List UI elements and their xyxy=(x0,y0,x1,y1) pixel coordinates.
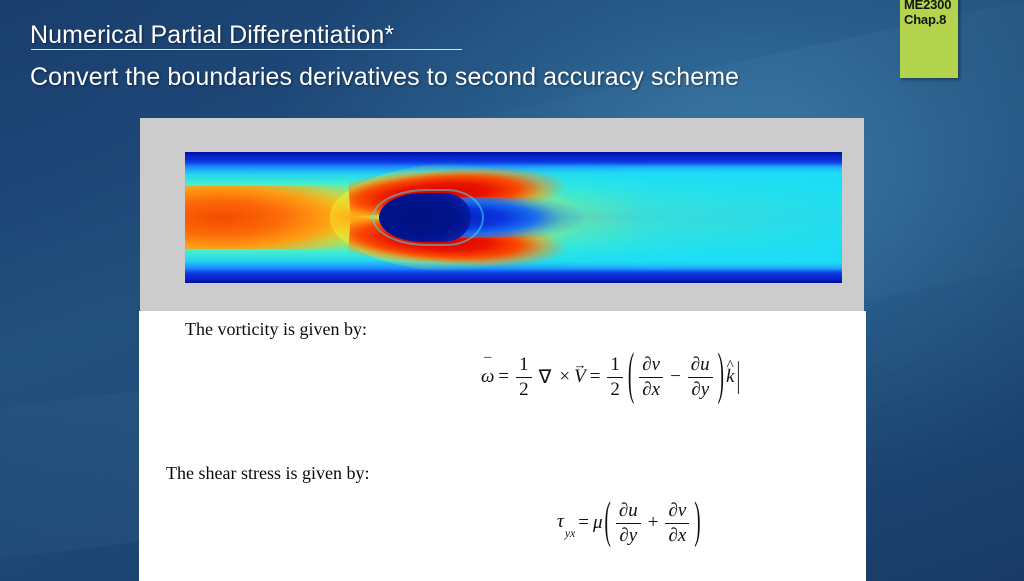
tau-subscript: yx xyxy=(565,527,575,540)
cfd-wall-boundary-layers xyxy=(185,152,842,283)
partial-v: ∂v xyxy=(665,501,689,521)
partial-u: ∂u xyxy=(616,501,641,521)
du-dy-fraction: ∂u ∂y xyxy=(688,355,713,400)
fraction-denominator: 2 xyxy=(607,380,623,400)
k-unit-vector-symbol: k^ xyxy=(726,366,734,388)
tau-glyph: τ xyxy=(557,511,564,532)
du-dy-fraction-2: ∂u ∂y xyxy=(616,501,641,546)
open-paren-2: ( xyxy=(605,494,611,553)
viscosity-symbol: μ xyxy=(593,512,603,534)
cross-product-sign: × xyxy=(559,366,570,388)
dv-dx-fraction: ∂v ∂x xyxy=(639,355,663,400)
fraction-bar xyxy=(639,377,663,378)
dv-dx-fraction-2: ∂v ∂x xyxy=(665,501,689,546)
one-half-fraction-2: 1 2 xyxy=(607,355,623,400)
omega-glyph: ω xyxy=(481,366,494,387)
minus-sign: − xyxy=(670,366,681,388)
course-badge: ME2300 Chap.8 xyxy=(900,0,958,78)
open-paren-1: ( xyxy=(628,344,634,410)
fraction-bar xyxy=(516,377,532,378)
fraction-numerator: 1 xyxy=(516,355,532,375)
fraction-bar xyxy=(688,377,713,378)
trailing-vertical-bar: | xyxy=(736,356,740,398)
fraction-bar xyxy=(616,523,641,524)
fraction-denominator: 2 xyxy=(516,380,532,400)
equals-sign-3: = xyxy=(578,512,589,534)
tau-symbol: τyx xyxy=(557,511,574,536)
fraction-bar xyxy=(665,523,689,524)
figure-panel xyxy=(140,118,864,311)
cfd-contour-plot xyxy=(185,152,842,283)
partial-x: ∂x xyxy=(665,526,689,546)
page-title: Numerical Partial Differentiation* xyxy=(30,21,394,50)
title-underline xyxy=(31,49,462,50)
partial-v: ∂v xyxy=(639,355,663,375)
partial-u: ∂u xyxy=(688,355,713,375)
plus-sign: + xyxy=(648,512,659,534)
vorticity-caption: The vorticity is given by: xyxy=(185,319,367,340)
vorticity-symbol: ω‾ xyxy=(481,366,494,388)
course-badge-chapter: Chap.8 xyxy=(904,12,958,27)
page-subtitle: Convert the boundaries derivatives to se… xyxy=(30,63,739,92)
shear-stress-caption: The shear stress is given by: xyxy=(166,463,369,484)
k-glyph: k xyxy=(726,366,734,387)
partial-y: ∂y xyxy=(616,526,640,546)
equals-sign-2: = xyxy=(590,366,601,388)
shear-stress-equation: τyx = μ ( ∂u ∂y + ∂v ∂x ) xyxy=(557,501,703,546)
velocity-vector-symbol: V→ xyxy=(574,366,586,388)
fraction-numerator: 1 xyxy=(607,355,623,375)
partial-x: ∂x xyxy=(639,380,663,400)
partial-y: ∂y xyxy=(688,380,712,400)
close-paren-2: ) xyxy=(694,494,700,553)
equals-sign-1: = xyxy=(498,366,509,388)
slide-canvas: Numerical Partial Differentiation* Conve… xyxy=(0,0,1024,581)
vorticity-equation: ω‾ = 1 2 ∇ × V→ = 1 2 ( ∂v ∂x − xyxy=(481,355,740,400)
fraction-bar xyxy=(607,377,623,378)
one-half-fraction-1: 1 2 xyxy=(516,355,532,400)
content-panel: The vorticity is given by: ω‾ = 1 2 ∇ × … xyxy=(139,311,866,581)
course-badge-code: ME2300 xyxy=(904,0,958,12)
nabla-operator: ∇ xyxy=(539,366,552,389)
close-paren-1: ) xyxy=(718,344,724,410)
velocity-glyph: V xyxy=(574,366,586,387)
